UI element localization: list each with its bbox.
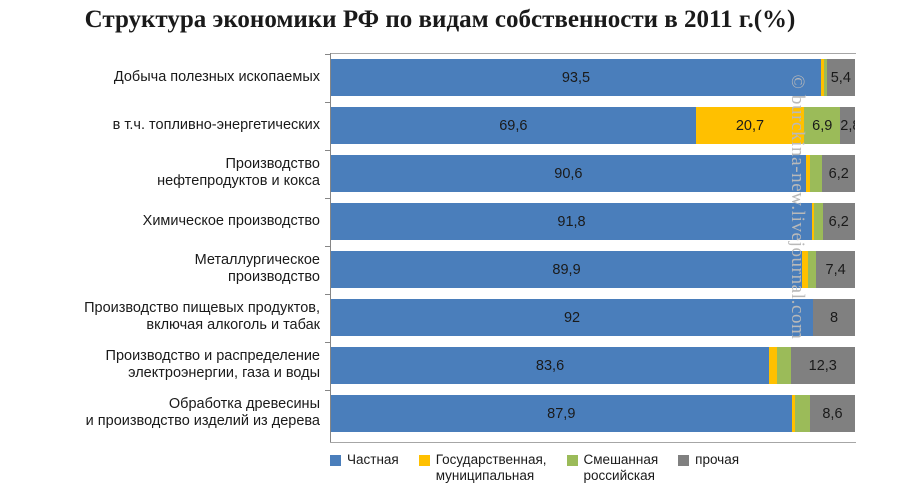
category-label: Обработка древесиныи производство издели… <box>10 396 320 430</box>
category-label: Производство и распределениеэлектроэнерг… <box>10 348 320 382</box>
bar-segment[interactable]: 90,6 <box>331 155 806 192</box>
axis-tick <box>325 342 331 343</box>
legend-swatch <box>567 455 578 466</box>
stacked-bar[interactable]: 87,98,6 <box>331 395 855 432</box>
bar-value-label: 5,4 <box>831 70 851 86</box>
plot-bottom-border <box>330 442 856 443</box>
bar-segment[interactable]: 8 <box>813 299 855 336</box>
bar-value-label: 6,2 <box>829 166 849 182</box>
bar-value-label: 91,8 <box>557 214 585 230</box>
category-label: Металлургическоепроизводство <box>10 252 320 286</box>
bar-value-label: 20,7 <box>736 118 764 134</box>
bar-row: в т.ч. топливно-энергетических69,620,76,… <box>0 102 866 150</box>
legend-label: Государственная, муниципальная <box>436 452 547 484</box>
bar-segment[interactable]: 6,9 <box>804 107 840 144</box>
bar-segment[interactable]: 20,7 <box>696 107 804 144</box>
bar-segment[interactable]: 2,8 <box>840 107 855 144</box>
legend-swatch <box>330 455 341 466</box>
bar-segment[interactable]: 8,6 <box>810 395 855 432</box>
legend-swatch <box>419 455 430 466</box>
bar-segment[interactable]: 12,3 <box>791 347 855 384</box>
bar-segment[interactable] <box>777 347 790 384</box>
axis-tick <box>325 150 331 151</box>
bar-segment[interactable] <box>795 395 810 432</box>
legend-label: Смешанная российская <box>584 452 659 484</box>
page-title: Структура экономики РФ по видам собствен… <box>0 6 880 34</box>
bar-segment[interactable]: 6,2 <box>822 155 854 192</box>
bar-segment[interactable]: 6,2 <box>823 203 855 240</box>
bar-row: Производствонефтепродуктов и кокса90,66,… <box>0 150 866 198</box>
bar-value-label: 6,9 <box>812 118 832 134</box>
bar-value-label: 90,6 <box>554 166 582 182</box>
bar-segment[interactable] <box>810 155 823 192</box>
axis-tick <box>325 198 331 199</box>
stacked-bar[interactable]: 89,97,4 <box>331 251 855 288</box>
legend-item[interactable]: Государственная, муниципальная <box>419 452 547 484</box>
plot-area: Добыча полезных ископаемых93,55,4в т.ч. … <box>0 53 866 445</box>
stacked-bar[interactable]: 69,620,76,92,8 <box>331 107 855 144</box>
axis-tick <box>325 54 331 55</box>
bar-value-label: 8 <box>830 310 838 326</box>
bar-row: Металлургическоепроизводство89,97,4 <box>0 246 866 294</box>
legend-label: Частная <box>347 452 399 468</box>
bar-value-label: 7,4 <box>826 262 846 278</box>
stacked-bar[interactable]: 91,86,2 <box>331 203 855 240</box>
axis-tick <box>325 294 331 295</box>
legend-item[interactable]: Частная <box>330 452 399 468</box>
stacked-bar[interactable]: 928 <box>331 299 855 336</box>
stacked-bar[interactable]: 83,612,3 <box>331 347 855 384</box>
bar-segment[interactable] <box>814 203 823 240</box>
bar-segment[interactable]: 5,4 <box>827 59 855 96</box>
bar-value-label: 92 <box>564 310 580 326</box>
category-label: Производствонефтепродуктов и кокса <box>10 156 320 190</box>
bar-segment[interactable]: 7,4 <box>816 251 855 288</box>
bar-row: Производство и распределениеэлектроэнерг… <box>0 342 866 390</box>
legend-item[interactable]: прочая <box>678 452 739 468</box>
bar-value-label: 6,2 <box>829 214 849 230</box>
category-label: в т.ч. топливно-энергетических <box>10 117 320 134</box>
chart-root: Структура экономики РФ по видам собствен… <box>0 0 900 495</box>
bar-value-label: 87,9 <box>547 406 575 422</box>
axis-tick <box>325 102 331 103</box>
bar-value-label: 12,3 <box>809 358 837 374</box>
legend-item[interactable]: Смешанная российская <box>567 452 659 484</box>
bar-segment[interactable]: 89,9 <box>331 251 802 288</box>
legend-label: прочая <box>695 452 739 468</box>
bar-value-label: 93,5 <box>562 70 590 86</box>
bar-segment[interactable] <box>769 347 777 384</box>
bar-value-label: 83,6 <box>536 358 564 374</box>
bar-segment[interactable]: 91,8 <box>331 203 812 240</box>
bar-segment[interactable] <box>808 251 816 288</box>
bar-segment[interactable]: 87,9 <box>331 395 792 432</box>
axis-tick <box>325 246 331 247</box>
bar-row: Обработка древесиныи производство издели… <box>0 390 866 438</box>
bar-row: Производство пищевых продуктов,включая а… <box>0 294 866 342</box>
bar-segment[interactable]: 92 <box>331 299 813 336</box>
category-label: Химическое производство <box>10 213 320 230</box>
bar-row: Химическое производство91,86,2 <box>0 198 866 246</box>
bar-value-label: 2,8 <box>840 118 855 134</box>
stacked-bar[interactable]: 90,66,2 <box>331 155 855 192</box>
stacked-bar[interactable]: 93,55,4 <box>331 59 855 96</box>
category-label: Производство пищевых продуктов,включая а… <box>10 300 320 334</box>
bar-segment[interactable]: 83,6 <box>331 347 769 384</box>
legend-swatch <box>678 455 689 466</box>
bar-segment[interactable]: 93,5 <box>331 59 821 96</box>
bar-segment[interactable]: 69,6 <box>331 107 696 144</box>
bar-value-label: 8,6 <box>822 406 842 422</box>
bar-row: Добыча полезных ископаемых93,55,4 <box>0 54 866 102</box>
category-label: Добыча полезных ископаемых <box>10 69 320 86</box>
chart-legend: ЧастнаяГосударственная, муниципальнаяСме… <box>330 452 860 484</box>
bar-value-label: 69,6 <box>499 118 527 134</box>
axis-tick <box>325 390 331 391</box>
bar-value-label: 89,9 <box>552 262 580 278</box>
